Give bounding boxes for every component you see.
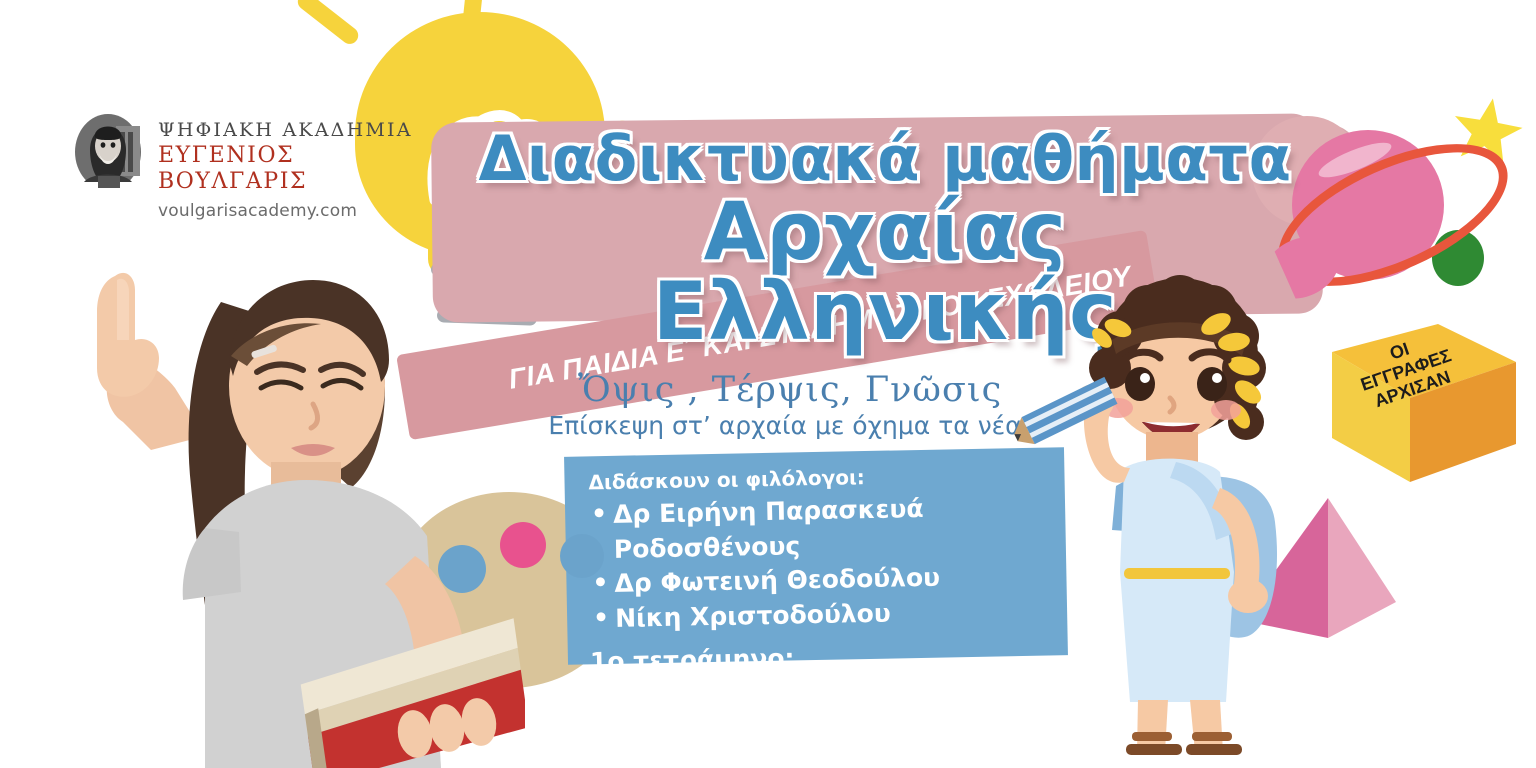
lightbulb-ray [294, 0, 361, 47]
logo-text-block: ΨΗΦΙΑΚΗ ΑΚΑΔΗΜΙΑ ΕΥΓΕΝΙΟΣ ΒΟΥΛΓΑΡΙΣ voul… [158, 112, 452, 221]
teachers-heading: Διδάσκουν οι φιλόλογοι: [588, 462, 1044, 495]
course-info-box: Διδάσκουν οι φιλόλογοι: Δρ Ειρήνη Παρασκ… [564, 447, 1068, 665]
logo-line-1: ΨΗΦΙΑΚΗ ΑΚΑΔΗΜΙΑ [158, 120, 452, 142]
registration-badge[interactable]: ΟΙ ΕΓΓΡΑΦΕΣ ΑΡΧΙΣΑΝ [1326, 318, 1522, 488]
academy-logo[interactable]: ΨΗΦΙΑΚΗ ΑΚΑΔΗΜΙΑ ΕΥΓΕΝΙΟΣ ΒΟΥΛΓΑΡΙΣ voul… [72, 112, 452, 216]
promotional-banner: Διαδικτυακά μαθήματα Αρχαίας Ελληνικής Γ… [0, 0, 1536, 768]
girl-with-book-photo [55, 236, 525, 768]
logo-website[interactable]: voulgarisacademy.com [158, 201, 452, 221]
pencil-icon [996, 372, 1126, 464]
title-line-1: Διαδικτυακά μαθήματα [470, 128, 1300, 190]
list-item: Δρ Ειρήνη Παρασκευά Ροδοσθένους [587, 490, 1046, 568]
logo-line-2: ΕΥΓΕΝΙΟΣ ΒΟΥΛΓΑΡΙΣ [158, 143, 452, 196]
term-dates: 4 Οκτωβρίου 2023 – 31 Ιανουαρίου 2024 [590, 669, 1049, 740]
greek-boy-illustration [1020, 272, 1350, 768]
term-block: 1ο τετράμηνο: 4 Οκτωβρίου 2023 – 31 Ιανο… [590, 638, 1050, 741]
portrait-icon [72, 112, 144, 196]
teachers-list: Δρ Ειρήνη Παρασκευά Ροδοσθένους Δρ Φωτει… [587, 490, 1048, 637]
list-item: Νίκη Χριστοδούλου [589, 593, 1048, 636]
palette-dot [560, 534, 604, 578]
